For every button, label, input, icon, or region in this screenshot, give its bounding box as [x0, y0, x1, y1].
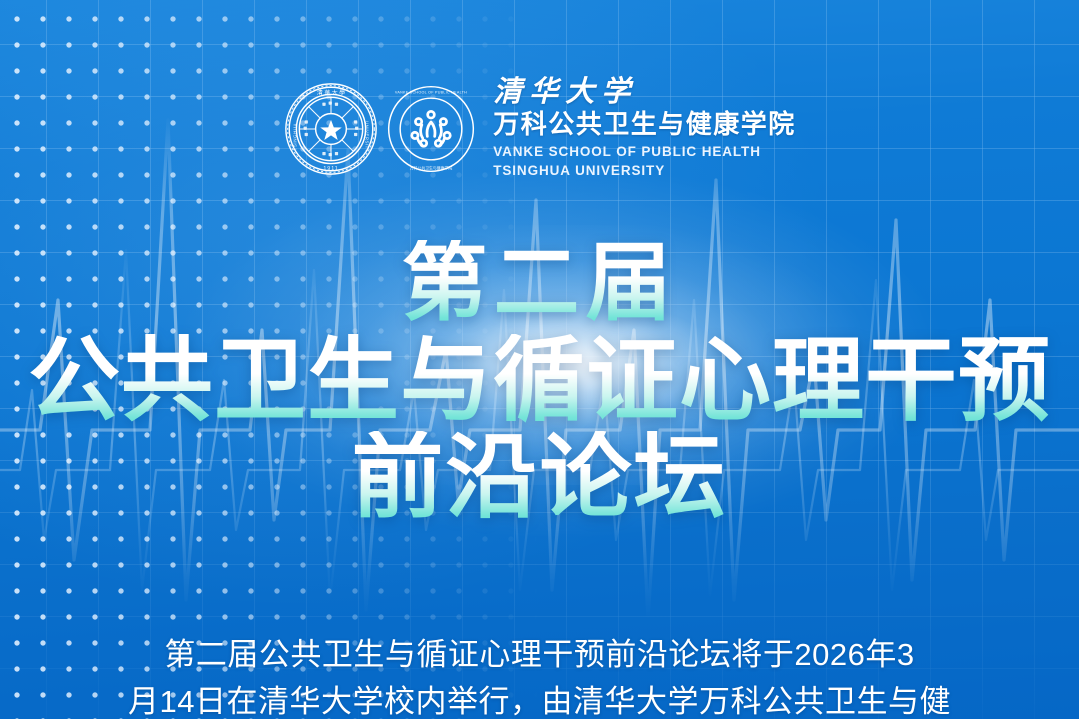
svg-text:TSINGHUA: TSINGHUA: [293, 123, 298, 150]
wordmark-school-en-line1: VANKE SCHOOL OF PUBLIC HEALTH: [493, 142, 796, 161]
svg-text:VANKE SCHOOL OF PUBLIC HEALTH: VANKE SCHOOL OF PUBLIC HEALTH: [395, 91, 467, 95]
svg-text:UNIVERSITY: UNIVERSITY: [365, 121, 370, 152]
wordmark-school-cn: 万科公共卫生与健康学院: [493, 110, 796, 138]
title-line-3: 前沿论坛: [0, 431, 1079, 527]
tsinghua-university-seal-icon: 清 華 大 學 1911 TSINGHUA UNIVERSITY: [283, 81, 379, 177]
institution-lockup: 清 華 大 學 1911 TSINGHUA UNIVERSITY: [0, 78, 1079, 180]
svg-text:清 華 大 學: 清 華 大 學: [317, 89, 345, 97]
title-line-1: 第二届: [0, 240, 1079, 328]
description-line-2: 月14日在清华大学校内举行，由清华大学万科公共卫生与健: [66, 678, 1013, 719]
vanke-school-seal-icon: VANKE SCHOOL OF PUBLIC HEALTH 万科公共卫生与健康学…: [385, 83, 477, 175]
institution-wordmark: 清华大学 万科公共卫生与健康学院 VANKE SCHOOL OF PUBLIC …: [493, 78, 796, 180]
event-description: 第二届公共卫生与循证心理干预前沿论坛将于2026年3 月14日在清华大学校内举行…: [0, 631, 1079, 719]
poster-title: 第二届 公共卫生与循证心理干预 前沿论坛: [0, 240, 1079, 527]
wordmark-tsinghua-cn: 清华大学: [493, 78, 796, 107]
svg-text:万科公共卫生与健康学院: 万科公共卫生与健康学院: [410, 166, 453, 171]
description-line-1: 第二届公共卫生与循证心理干预前沿论坛将于2026年3: [66, 631, 1013, 678]
svg-text:1911: 1911: [324, 166, 339, 172]
wordmark-school-en-line2: TSINGHUA UNIVERSITY: [493, 161, 796, 180]
title-line-2: 公共卫生与循证心理干预: [0, 334, 1079, 430]
event-poster: 清 華 大 學 1911 TSINGHUA UNIVERSITY: [0, 0, 1079, 719]
